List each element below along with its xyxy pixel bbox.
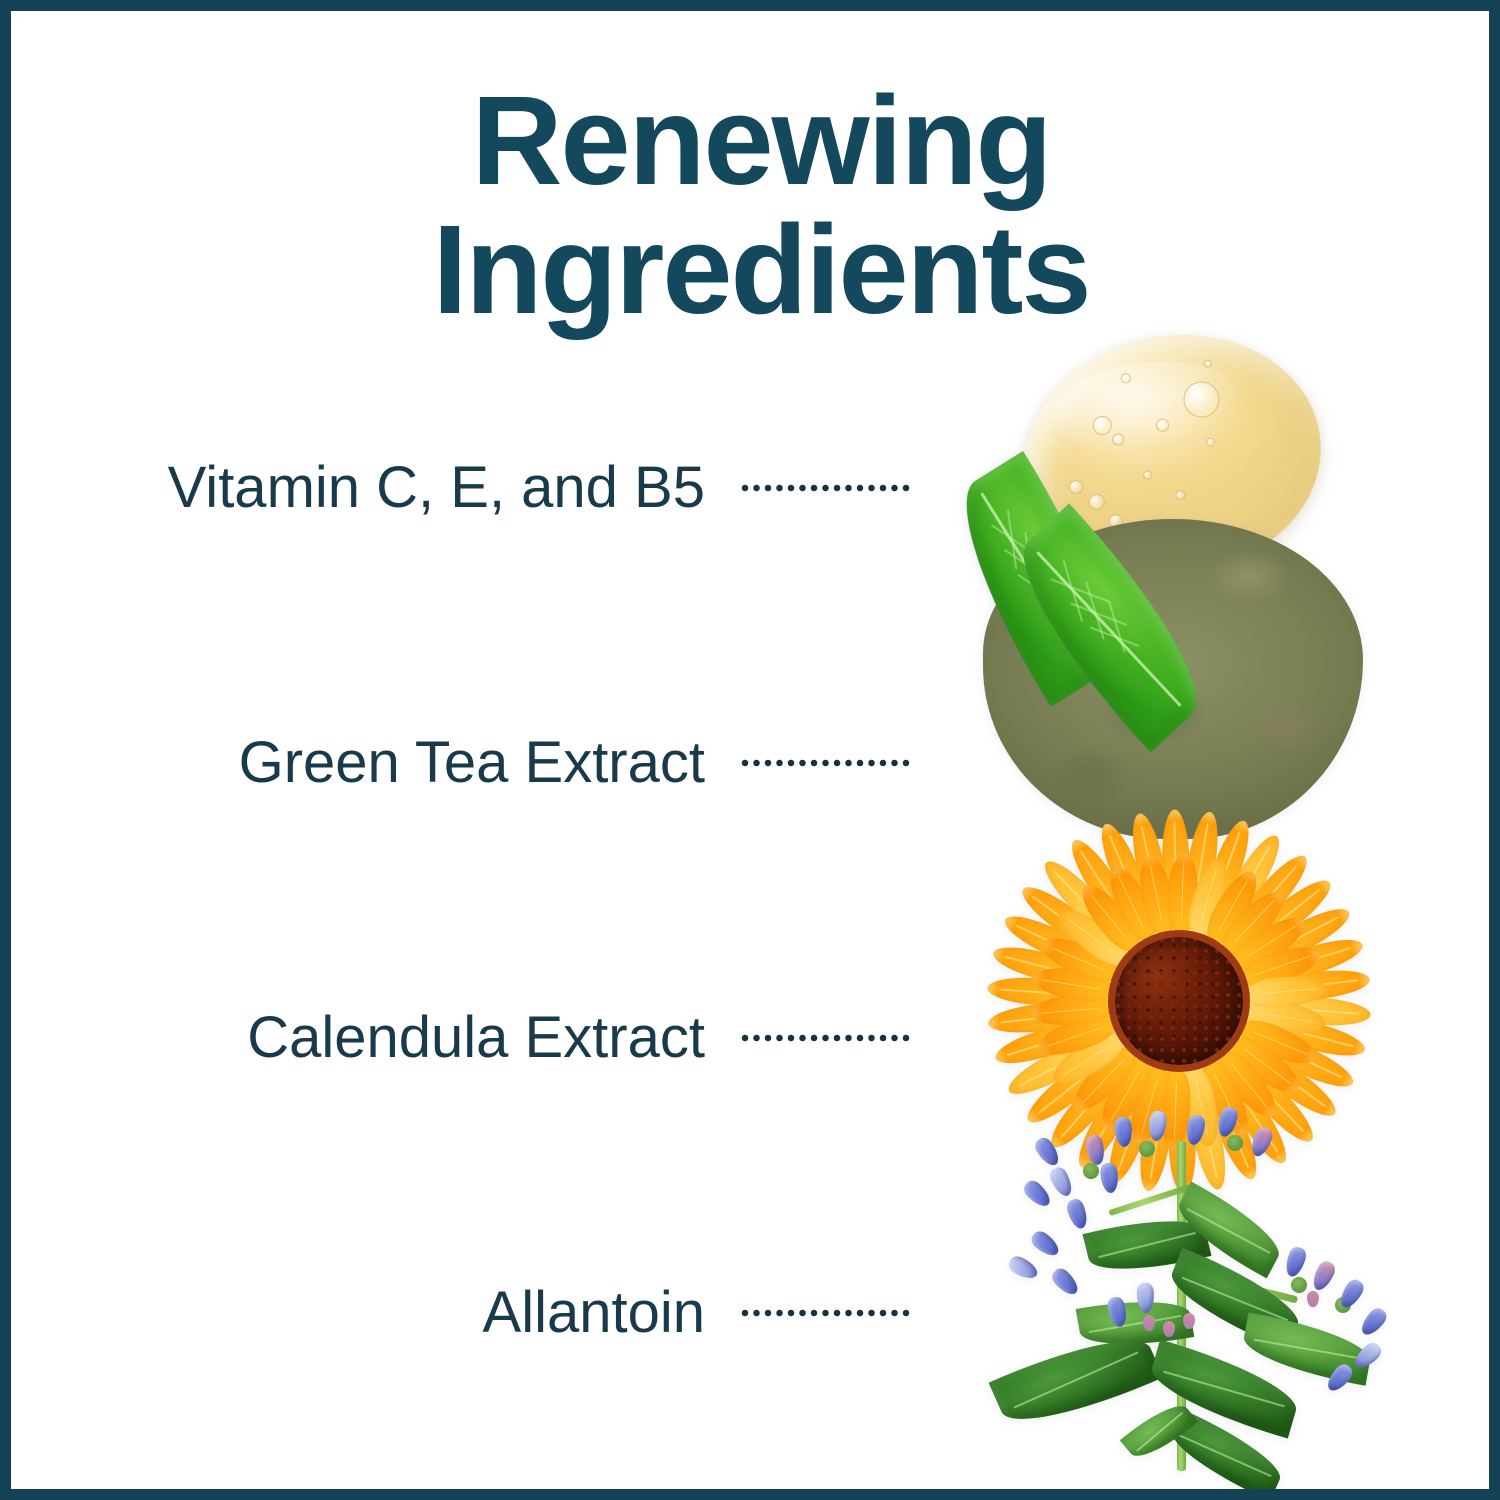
comfrey-flower [1309, 1259, 1337, 1293]
comfrey-flower [1283, 1245, 1308, 1279]
comfrey-calyx [1227, 1135, 1243, 1151]
ingredient-label-green-tea: Green Tea Extract [239, 723, 705, 803]
list-item: Allantoin [11, 1273, 911, 1353]
comfrey-flower [1065, 1197, 1090, 1231]
comfrey-flower [1032, 1135, 1063, 1169]
calendula-center-disc [1115, 937, 1243, 1065]
comfrey-leaf [1239, 1312, 1374, 1385]
list-item: Calendula Extract [11, 998, 911, 1078]
comfrey-flower [1047, 1165, 1075, 1199]
dot-leader-icon [741, 1273, 911, 1353]
ingredient-label-vitamins: Vitamin C, E, and B5 [168, 448, 705, 528]
ingredients-infographic-card: Renewing Ingredients Vitamin C, E, and B… [0, 0, 1500, 1500]
bubble-icon [1088, 494, 1106, 512]
comfrey-flower [1028, 1228, 1062, 1260]
list-item: Green Tea Extract [11, 723, 911, 803]
comfrey-calyx [1139, 1141, 1155, 1157]
comfrey-bud [1183, 1313, 1195, 1329]
list-item: Vitamin C, E, and B5 [11, 448, 911, 528]
comfrey-flower [1049, 1265, 1082, 1298]
comfrey-flower [1185, 1114, 1207, 1146]
title-line-two: Ingredients [11, 206, 1500, 335]
comfrey-flower [1147, 1110, 1167, 1142]
ingredient-label-allantoin: Allantoin [483, 1273, 705, 1353]
leaf-vein [1090, 626, 1139, 646]
comfrey-flower [1357, 1305, 1389, 1339]
bubble-icon [1068, 479, 1083, 494]
bubble-icon [1206, 437, 1216, 447]
dot-leader-icon [741, 998, 911, 1078]
comfrey-flower [1006, 1253, 1040, 1282]
bubble-icon [1143, 470, 1153, 480]
comfrey-flower [1248, 1125, 1275, 1159]
bubble-icon [1175, 490, 1186, 501]
title-line-one: Renewing [11, 77, 1500, 206]
dot-leader-icon [741, 723, 911, 803]
comfrey-bud [1307, 1291, 1319, 1307]
comfrey-flower [1021, 1177, 1054, 1210]
comfrey-leaf [1120, 1394, 1198, 1468]
comfrey-plant-image [991, 1101, 1411, 1500]
comfrey-flower [1114, 1116, 1133, 1147]
ingredient-imagery-stack [871, 311, 1491, 1500]
dot-leader-icon [741, 448, 911, 528]
comfrey-flower [1085, 1134, 1107, 1166]
leaf-vein [1109, 602, 1126, 653]
ingredient-label-calendula: Calendula Extract [247, 998, 705, 1078]
comfrey-flower [1099, 1162, 1119, 1194]
page-title: Renewing Ingredients [11, 77, 1500, 334]
comfrey-calyx [1291, 1277, 1307, 1293]
comfrey-calyx [1083, 1163, 1099, 1179]
comfrey-flower [1215, 1105, 1240, 1139]
